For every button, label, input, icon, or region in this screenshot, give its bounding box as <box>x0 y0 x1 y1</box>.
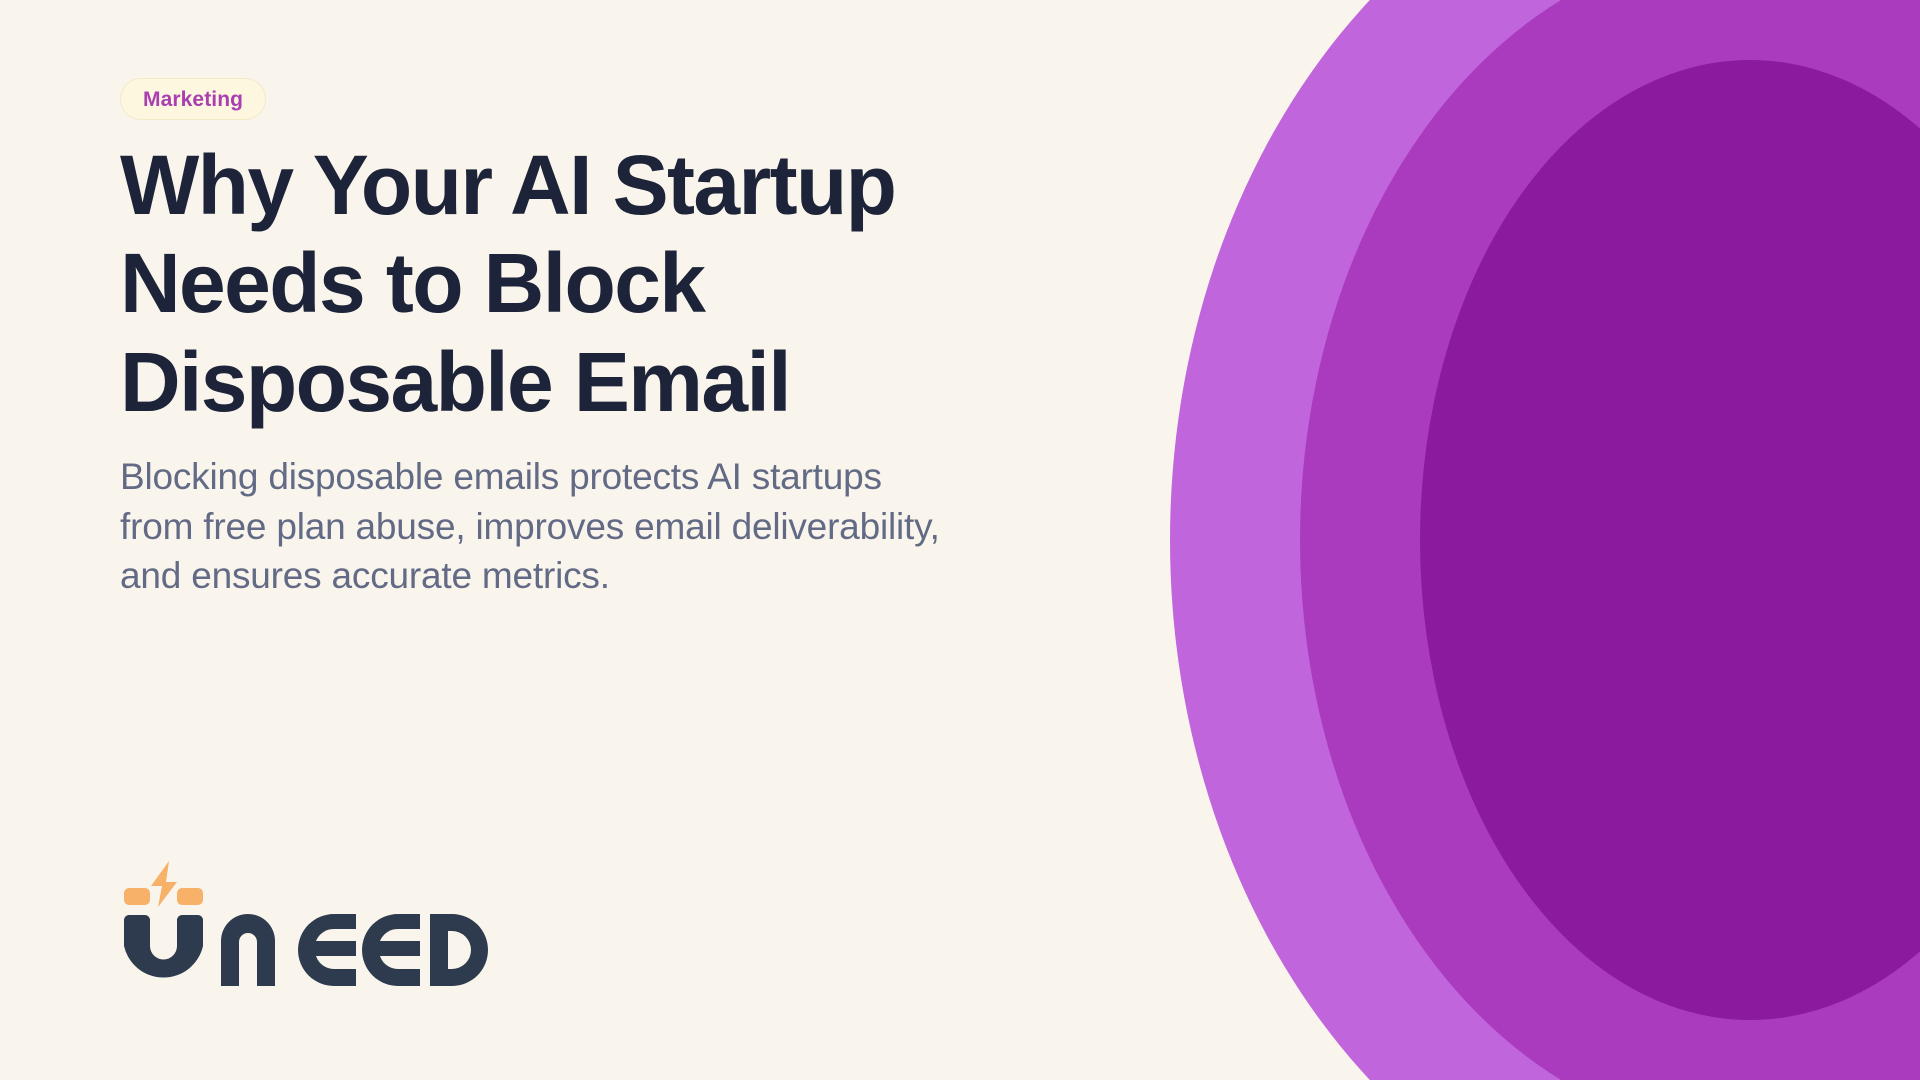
uneed-logo[interactable] <box>120 855 540 995</box>
lightning-bolt-icon <box>151 861 177 907</box>
page-title: Why Your AI Startup Needs to Block Dispo… <box>120 136 1180 431</box>
social-card-canvas: Marketing Why Your AI Startup Needs to B… <box>0 0 1920 1080</box>
logo-letter-n <box>221 914 275 986</box>
inner-arc <box>1420 60 1920 1020</box>
category-badge-label: Marketing <box>143 89 243 110</box>
logo-letter-e-2 <box>362 914 420 986</box>
headline-line-1: Why Your AI Startup <box>120 136 1180 234</box>
page-subtitle: Blocking disposable emails protects AI s… <box>120 452 1140 601</box>
subtitle-line-3: and ensures accurate metrics. <box>120 551 1140 601</box>
magnet-icon <box>124 915 203 978</box>
logo-letter-e-1 <box>298 914 356 986</box>
subtitle-line-1: Blocking disposable emails protects AI s… <box>120 452 1140 502</box>
headline-line-3: Disposable Email <box>120 333 1180 431</box>
headline-line-2: Needs to Block <box>120 234 1180 332</box>
logo-letter-d <box>430 914 488 986</box>
content-column: Marketing Why Your AI Startup Needs to B… <box>120 0 1240 1080</box>
subtitle-line-2: from free plan abuse, improves email del… <box>120 502 1140 552</box>
category-badge[interactable]: Marketing <box>120 78 266 120</box>
middle-arc <box>1300 0 1920 1080</box>
outer-arc <box>1170 0 1920 1080</box>
